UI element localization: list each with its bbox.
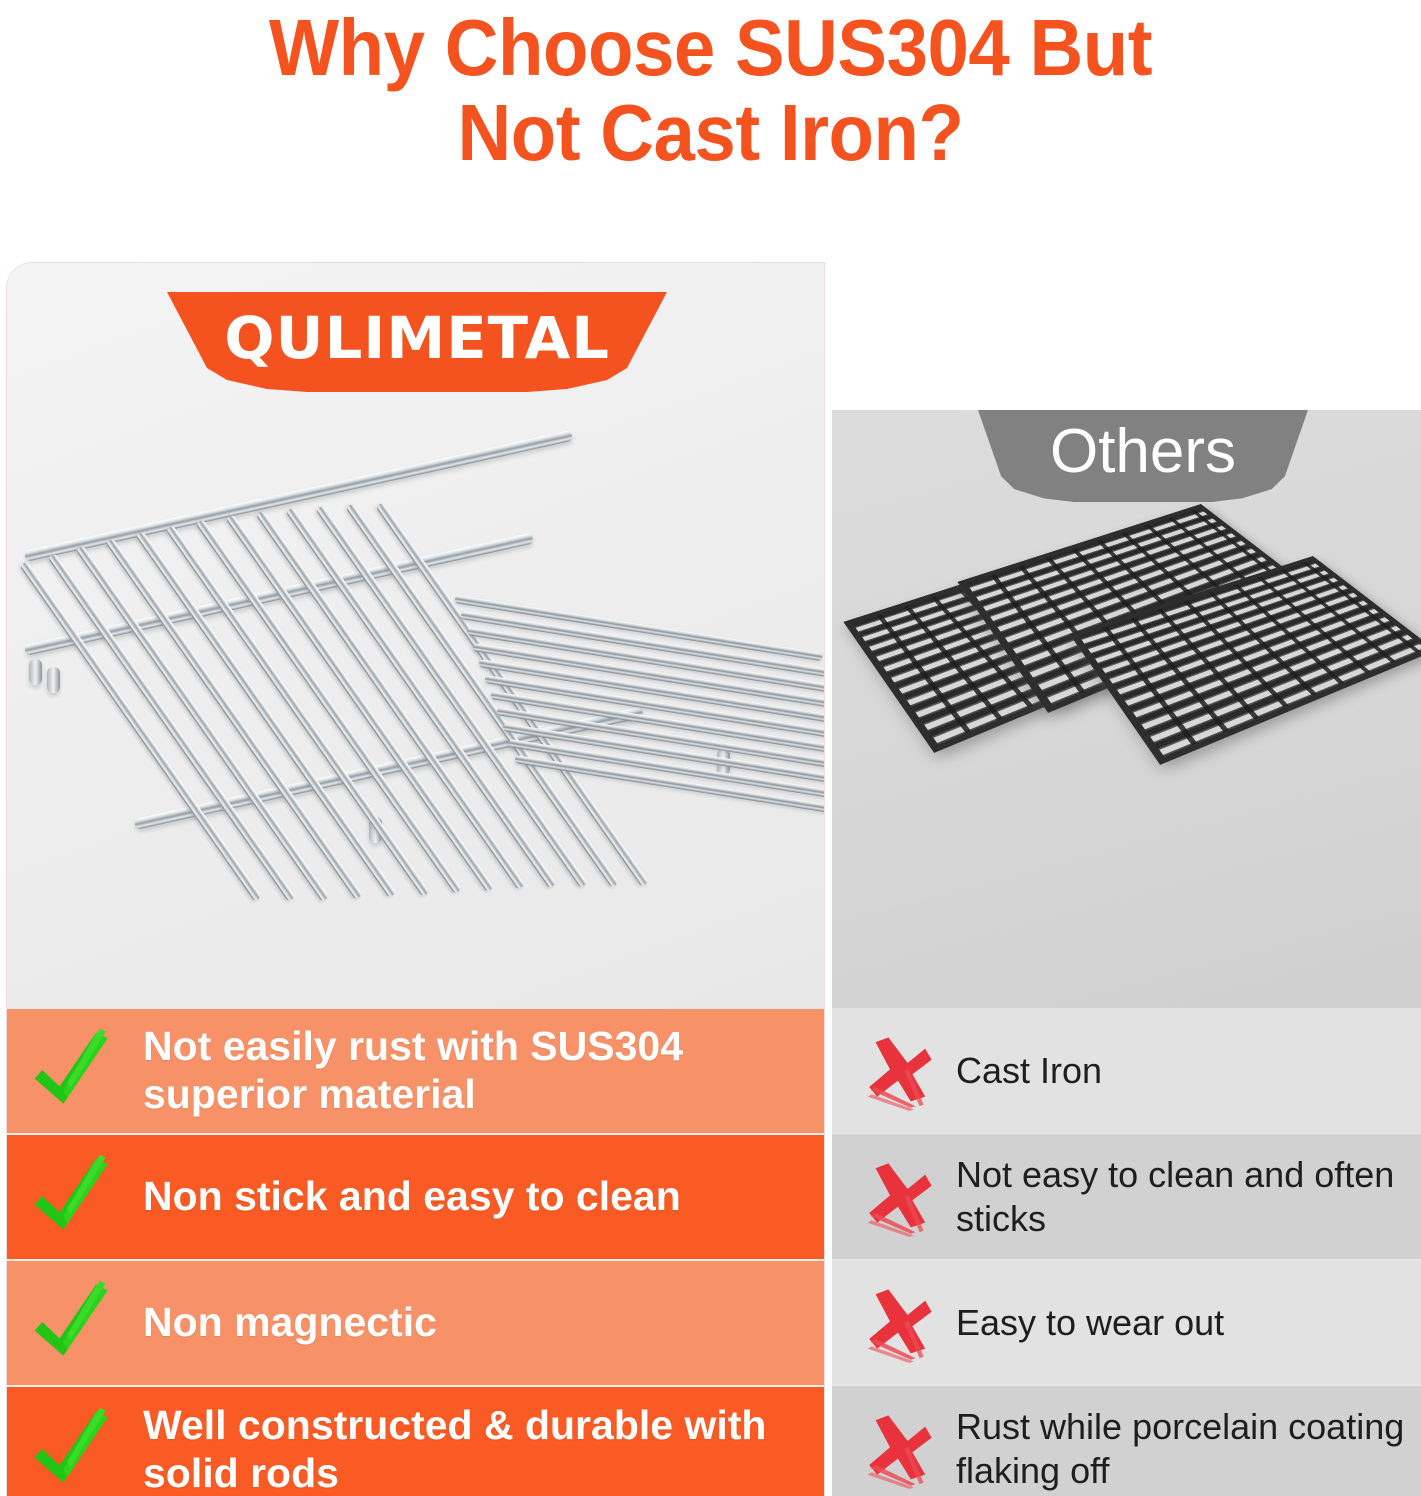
feature-row: Well constructed & durable with solid ro… [7, 1387, 824, 1496]
feature-text: Not easily rust with SUS304 superior mat… [143, 1023, 783, 1119]
check-icon [25, 1402, 121, 1496]
cross-icon [858, 1157, 938, 1237]
cross-icon [858, 1283, 938, 1363]
feature-list-others: Cast Iron Not easy to clean and often st… [832, 1008, 1421, 1496]
cross-icon [858, 1409, 938, 1489]
panel-others: Others Cast Iron Not easy [832, 410, 1421, 1496]
feature-row: Easy to wear out [832, 1260, 1421, 1386]
badge-others: Others [978, 410, 1308, 502]
page-title: Why Choose SUS304 But Not Cast Iron? [0, 0, 1421, 232]
feature-row: Non stick and easy to clean [7, 1135, 824, 1261]
cross-icon [858, 1031, 938, 1111]
comparison-panels: QULIMETAL Not easily rust with SUS304 su… [0, 232, 1421, 1496]
badge-others-label: Others [1050, 416, 1236, 487]
title-line-2: Not Cast Iron? [50, 91, 1372, 176]
feature-list-qulimetal: Not easily rust with SUS304 superior mat… [7, 1009, 824, 1496]
panel-qulimetal: QULIMETAL Not easily rust with SUS304 su… [6, 262, 825, 1496]
feature-text: Not easy to clean and often sticks [956, 1153, 1406, 1241]
title-line-1: Why Choose SUS304 But [50, 6, 1372, 91]
check-icon [25, 1023, 121, 1119]
check-icon [25, 1275, 121, 1371]
feature-row: Non magnectic [7, 1261, 824, 1387]
feature-row: Not easily rust with SUS304 superior mat… [7, 1009, 824, 1135]
feature-text: Rust while porcelain coating flaking off [956, 1405, 1406, 1493]
feature-text: Easy to wear out [956, 1301, 1224, 1345]
feature-row: Cast Iron [832, 1008, 1421, 1134]
feature-row: Rust while porcelain coating flaking off [832, 1386, 1421, 1496]
badge-qulimetal: QULIMETAL [167, 292, 667, 392]
badge-qulimetal-label: QULIMETAL [224, 304, 610, 372]
feature-text: Non magnectic [143, 1299, 437, 1347]
feature-text: Well constructed & durable with solid ro… [143, 1402, 783, 1496]
stainless-rods-illustration [17, 499, 817, 899]
feature-text: Cast Iron [956, 1049, 1102, 1093]
feature-text: Non stick and easy to clean [143, 1173, 681, 1221]
feature-row: Not easy to clean and often sticks [832, 1134, 1421, 1260]
check-icon [25, 1149, 121, 1245]
